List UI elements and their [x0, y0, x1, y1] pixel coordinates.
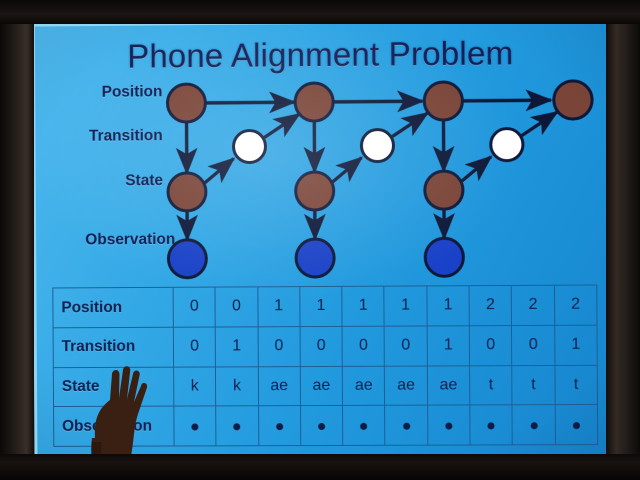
- table-cell: ae: [300, 366, 343, 406]
- table-cell: 0: [173, 327, 215, 367]
- node-transition-1: [361, 129, 393, 161]
- table-cell: [470, 405, 513, 445]
- table-row: State k k ae ae ae ae ae t t t: [53, 365, 597, 407]
- table-cell: k: [216, 366, 258, 406]
- projection-room: Phone Alignment Problem Position Transit…: [0, 0, 640, 480]
- table-rowhead-transition: Transition: [53, 327, 174, 367]
- table-cell: 0: [215, 287, 257, 327]
- hmm-diagram: Position Transition State Observation: [35, 21, 613, 293]
- table-cell: [343, 406, 386, 446]
- table-row: Position 0 0 1 1 1 1 1 2 2 2: [53, 285, 597, 328]
- table-cell: 1: [427, 286, 470, 326]
- screen-bezel-top: [0, 0, 640, 24]
- node-transition-0: [233, 130, 265, 162]
- table-cell: [216, 406, 258, 446]
- graph-edges: [186, 100, 557, 240]
- node-observation-2: [425, 238, 463, 276]
- table-cell: 0: [300, 326, 343, 366]
- node-transition-2: [491, 128, 523, 160]
- slide-canvas: Phone Alignment Problem Position Transit…: [32, 18, 613, 462]
- table-cell: 1: [427, 326, 470, 366]
- observation-dot: [403, 422, 410, 429]
- table-row: Transition 0 1 0 0 0 0 1 0 0 1: [53, 325, 597, 367]
- table-cell: 1: [554, 325, 597, 365]
- table-cell: [427, 405, 470, 445]
- observation-dot: [318, 423, 325, 430]
- table-cell: t: [555, 365, 598, 405]
- node-observation-0: [168, 240, 206, 278]
- table-cell: 1: [300, 286, 343, 326]
- screen-bezel-right: [606, 0, 640, 480]
- table-rowhead-observation: Observation: [54, 406, 175, 446]
- observation-dot: [234, 423, 241, 430]
- table-cell: [300, 406, 343, 446]
- table-cell: [385, 405, 428, 445]
- table-cell: [174, 406, 216, 446]
- alignment-table: Position 0 0 1 1 1 1 1 2 2 2: [52, 284, 598, 446]
- node-position-2: [424, 82, 462, 120]
- table-cell: 0: [512, 325, 555, 365]
- table-cell: 2: [554, 285, 597, 325]
- observation-dot: [192, 423, 199, 430]
- observation-dot: [445, 422, 452, 429]
- table-rowhead-position: Position: [53, 287, 174, 327]
- table-cell: [555, 405, 598, 445]
- table-cell: ae: [258, 366, 300, 406]
- table-cell: 0: [342, 326, 385, 366]
- node-state-1: [296, 172, 334, 210]
- table-cell: ae: [385, 366, 428, 406]
- table-cell: 0: [469, 325, 512, 365]
- table-cell: 1: [384, 286, 427, 326]
- table-cell: 1: [342, 286, 385, 326]
- hmm-graph-svg: [35, 21, 613, 293]
- node-position-3: [554, 81, 592, 119]
- table-cell: 0: [173, 287, 215, 327]
- table-cell: [258, 406, 300, 446]
- screen-bezel-left: [0, 0, 34, 480]
- table-cell: k: [174, 366, 216, 406]
- table-cell: ae: [427, 365, 470, 405]
- table-cell: 1: [257, 287, 299, 327]
- observation-dot: [488, 422, 495, 429]
- alignment-table-container: Position 0 0 1 1 1 1 1 2 2 2: [52, 284, 598, 446]
- screen-bezel-bottom: [0, 454, 640, 480]
- observation-dot: [530, 422, 537, 429]
- table-cell: [512, 405, 555, 445]
- node-state-0: [168, 173, 206, 211]
- table-cell: t: [512, 365, 555, 405]
- table-cell: ae: [342, 366, 385, 406]
- observation-dot: [573, 422, 580, 429]
- node-state-2: [425, 171, 463, 209]
- table-cell: t: [470, 365, 513, 405]
- node-observation-1: [296, 239, 334, 277]
- observation-dot: [360, 422, 367, 429]
- observation-dot: [276, 423, 283, 430]
- projected-slide: Phone Alignment Problem Position Transit…: [32, 18, 613, 462]
- table-rowhead-state: State: [53, 367, 174, 407]
- table-row: Observation: [54, 405, 598, 447]
- node-position-0: [167, 84, 205, 122]
- node-position-1: [295, 83, 333, 121]
- table-cell: 2: [512, 285, 555, 325]
- table-body: Position 0 0 1 1 1 1 1 2 2 2: [53, 285, 598, 446]
- graph-nodes: [167, 81, 593, 278]
- table-cell: 2: [469, 285, 512, 325]
- table-cell: 1: [215, 327, 257, 367]
- table-cell: 0: [258, 326, 300, 366]
- table-cell: 0: [385, 326, 428, 366]
